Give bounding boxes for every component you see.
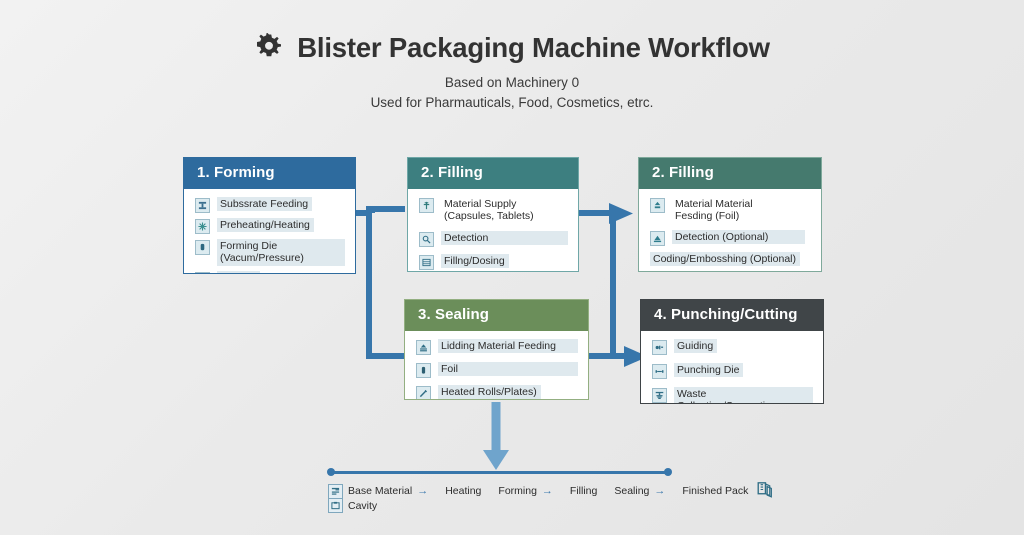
dosing-icon	[419, 255, 434, 270]
list-item[interactable]: Guiding	[652, 339, 813, 355]
stage-header-filling-2: 2. Filling	[639, 158, 821, 189]
stage-header-forming: 1. Forming	[184, 158, 355, 189]
die-icon	[195, 240, 210, 255]
list-item[interactable]: Heated Rolls/Plates)	[416, 385, 578, 400]
timeline-step-label: Finished Pack	[682, 485, 748, 497]
timeline-cavity-row: Cavity	[328, 498, 377, 513]
list-item-label: Material Supply (Capsules, Tablets)	[441, 197, 538, 224]
timeline-arrow-icon: →	[542, 485, 553, 497]
timeline-arrow-icon: →	[417, 485, 428, 497]
list-item-label: Cooling	[217, 271, 260, 274]
stage-card-filling-2[interactable]: 2. Filling Material Material Fesding (Fo…	[638, 157, 822, 272]
list-item-label: Forming Die (Vacum/Pressure)	[217, 239, 345, 266]
heater-icon	[195, 219, 210, 234]
subtitle-line-2: Used for Pharmauticals, Food, Cosmetics,…	[0, 95, 1024, 110]
stage-body-punching-cutting: Guiding Punching Die Waste Collection/Se…	[641, 331, 823, 404]
base-material-icon	[328, 484, 343, 499]
subtitle-line-1: Based on Machinery 0	[0, 75, 1024, 90]
heated-roll-icon	[416, 386, 431, 400]
list-item[interactable]: Forming Die (Vacum/Pressure)	[195, 239, 345, 266]
punch-die-icon	[652, 364, 667, 379]
list-item-label: Detection (Optional)	[672, 230, 805, 245]
list-item[interactable]: Waste Collection/Separation	[652, 387, 813, 404]
list-item[interactable]: Cooling	[195, 271, 345, 274]
stage-body-forming: Subssrate Feeding Preheating/Heating For…	[184, 189, 355, 274]
timeline-start-dot	[327, 468, 335, 476]
stage-body-sealing: Lidding Material Feeding Foil Heated Rol…	[405, 331, 588, 400]
list-item[interactable]: Foil	[416, 362, 578, 378]
list-item-label: Lidding Material Feeding	[438, 339, 578, 354]
stage-card-forming[interactable]: 1. Forming Subssrate Feeding Preheating/…	[183, 157, 356, 274]
substrate-roll-icon	[195, 198, 210, 213]
page-title-text: Blister Packaging Machine Workflow	[297, 32, 770, 64]
list-item[interactable]: Lidding Material Feeding	[416, 339, 578, 355]
list-item[interactable]: Detection	[419, 231, 568, 247]
capsule-supply-icon	[419, 198, 434, 213]
stage-header-filling: 2. Filling	[408, 158, 578, 189]
foil-icon	[416, 363, 431, 378]
timeline-axis	[331, 471, 668, 474]
list-item-label: Coding/Embosshing (Optional)	[650, 252, 800, 267]
foil-feed-icon	[650, 198, 665, 213]
stage-card-filling[interactable]: 2. Filling Material Supply (Capsules, Ta…	[407, 157, 579, 272]
stage-card-punching-cutting[interactable]: 4. Punching/Cutting Guiding Punching Die…	[640, 299, 824, 404]
list-item-label: Heated Rolls/Plates)	[438, 385, 541, 400]
page-title: Blister Packaging Machine Workflow	[0, 32, 1024, 64]
list-item-label: Guiding	[674, 339, 717, 354]
timeline-step-label: Base Material	[348, 485, 412, 497]
list-item-label: Detection	[441, 231, 568, 246]
list-item-label: Subssrate Feeding	[217, 197, 312, 212]
list-item[interactable]: Fillng/Dosing	[419, 254, 568, 270]
gear-icon	[254, 33, 284, 63]
list-item[interactable]: Punching Die	[652, 363, 813, 379]
waste-icon	[652, 388, 667, 403]
finished-pack-icon	[757, 481, 774, 501]
list-item-label: Fillng/Dosing	[441, 254, 509, 269]
list-item[interactable]: Preheating/Heating	[195, 218, 345, 234]
list-item[interactable]: Material Supply (Capsules, Tablets)	[419, 197, 568, 224]
diagram-canvas: Blister Packaging Machine Workflow Based…	[0, 0, 1024, 535]
timeline-step-label: Sealing	[614, 485, 649, 497]
timeline-step-label: Filling	[570, 485, 597, 497]
timeline-steps-row: Base Material → Heating Forming → Fillin…	[328, 481, 774, 501]
stage-header-sealing: 3. Sealing	[405, 300, 588, 331]
guide-icon	[652, 340, 667, 355]
cooling-icon	[195, 272, 210, 274]
list-item[interactable]: Coding/Embosshing (Optional)	[650, 252, 811, 268]
stage-body-filling: Material Supply (Capsules, Tablets) Dete…	[408, 189, 578, 272]
lidding-feed-icon	[416, 340, 431, 355]
list-item[interactable]: Subssrate Feeding	[195, 197, 345, 213]
stage-header-punching-cutting: 4. Punching/Cutting	[641, 300, 823, 331]
magnifier-icon	[419, 232, 434, 247]
list-item-label: Punching Die	[674, 363, 743, 378]
list-item-label: Material Material Fesding (Foil)	[672, 197, 757, 224]
timeline-step-label: Heating	[445, 485, 481, 497]
sensor-icon	[650, 231, 665, 246]
list-item-label: Foil	[438, 362, 578, 377]
timeline-cavity-label: Cavity	[348, 500, 377, 512]
cavity-icon	[328, 498, 343, 513]
list-item[interactable]: Material Material Fesding (Foil)	[650, 197, 811, 224]
timeline-arrow-icon: →	[654, 485, 665, 497]
timeline-end-dot	[664, 468, 672, 476]
list-item-label: Preheating/Heating	[217, 218, 314, 233]
stage-body-filling-2: Material Material Fesding (Foil) Detecti…	[639, 189, 821, 272]
list-item-label: Waste Collection/Separation	[674, 387, 813, 404]
timeline-step-label: Forming	[498, 485, 537, 497]
list-item[interactable]: Detection (Optional)	[650, 230, 811, 246]
stage-card-sealing[interactable]: 3. Sealing Lidding Material Feeding Foil…	[404, 299, 589, 400]
